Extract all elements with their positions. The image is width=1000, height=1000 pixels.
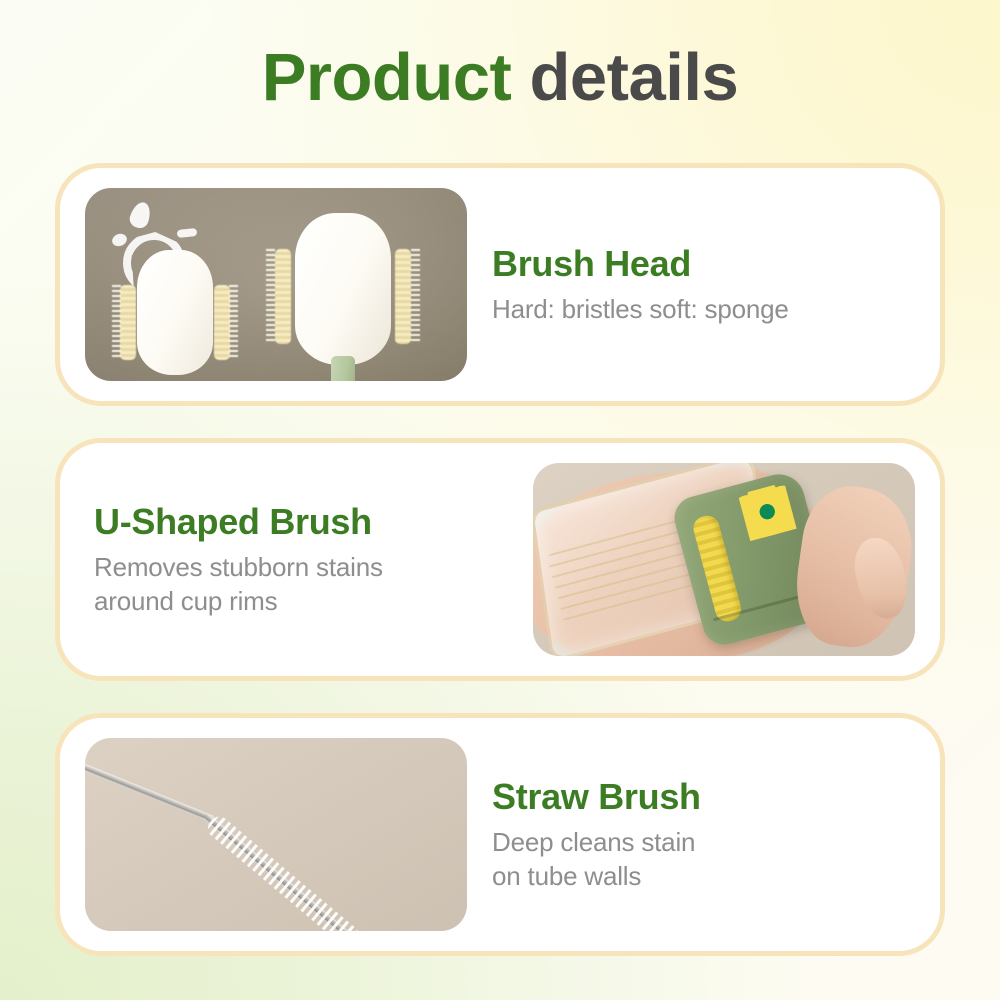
u-shaped-brush-cleaning-cup-photo xyxy=(533,463,915,656)
feature-card-straw-brush: Straw Brush Deep cleans stain on tube wa… xyxy=(55,713,945,956)
feature-subtitle: Removes stubborn stains around cup rims xyxy=(94,551,508,618)
page-title-rest: details xyxy=(529,40,738,115)
feature-title: U-Shaped Brush xyxy=(94,501,508,542)
page-title-highlight: Product xyxy=(262,40,512,115)
splash-dash-icon xyxy=(177,228,198,238)
bristle-strip-left xyxy=(275,249,291,343)
sponge-brush-heads-photo xyxy=(85,188,467,381)
flower-button-icon xyxy=(738,482,797,541)
feature-subtitle: Hard: bristles soft: sponge xyxy=(492,293,912,326)
feature-subtitle: Deep cleans stain on tube walls xyxy=(492,826,912,893)
yellow-u-brush xyxy=(691,513,744,624)
small-sponge-brush-head xyxy=(137,250,213,375)
bristle-strip-right xyxy=(214,285,230,360)
bristle-strip-right xyxy=(395,249,411,343)
feature-text-block: Straw Brush Deep cleans stain on tube wa… xyxy=(492,776,940,893)
feature-title: Brush Head xyxy=(492,243,912,284)
bristle-strip-left xyxy=(120,285,136,360)
feature-title: Straw Brush xyxy=(492,776,912,817)
splash-drop-icon xyxy=(127,200,153,231)
feature-text-block: U-Shaped Brush Removes stubborn stains a… xyxy=(60,501,508,618)
metal-straw-upper-segment xyxy=(85,760,215,823)
feature-card-u-shaped-brush: U-Shaped Brush Removes stubborn stains a… xyxy=(55,438,945,681)
large-sponge-brush-head xyxy=(295,213,391,365)
straw-brush-in-metal-straw-photo xyxy=(85,738,467,931)
feature-text-block: Brush Head Hard: bristles soft: sponge xyxy=(492,243,940,327)
product-details-page: Product details Brush Hea xyxy=(0,0,1000,1000)
page-title: Product details xyxy=(0,44,1000,111)
feature-card-brush-head: Brush Head Hard: bristles soft: sponge xyxy=(55,163,945,406)
straw-brush-bristles xyxy=(204,813,364,931)
splash-dot-icon xyxy=(110,232,128,248)
brush-handle xyxy=(331,356,355,381)
